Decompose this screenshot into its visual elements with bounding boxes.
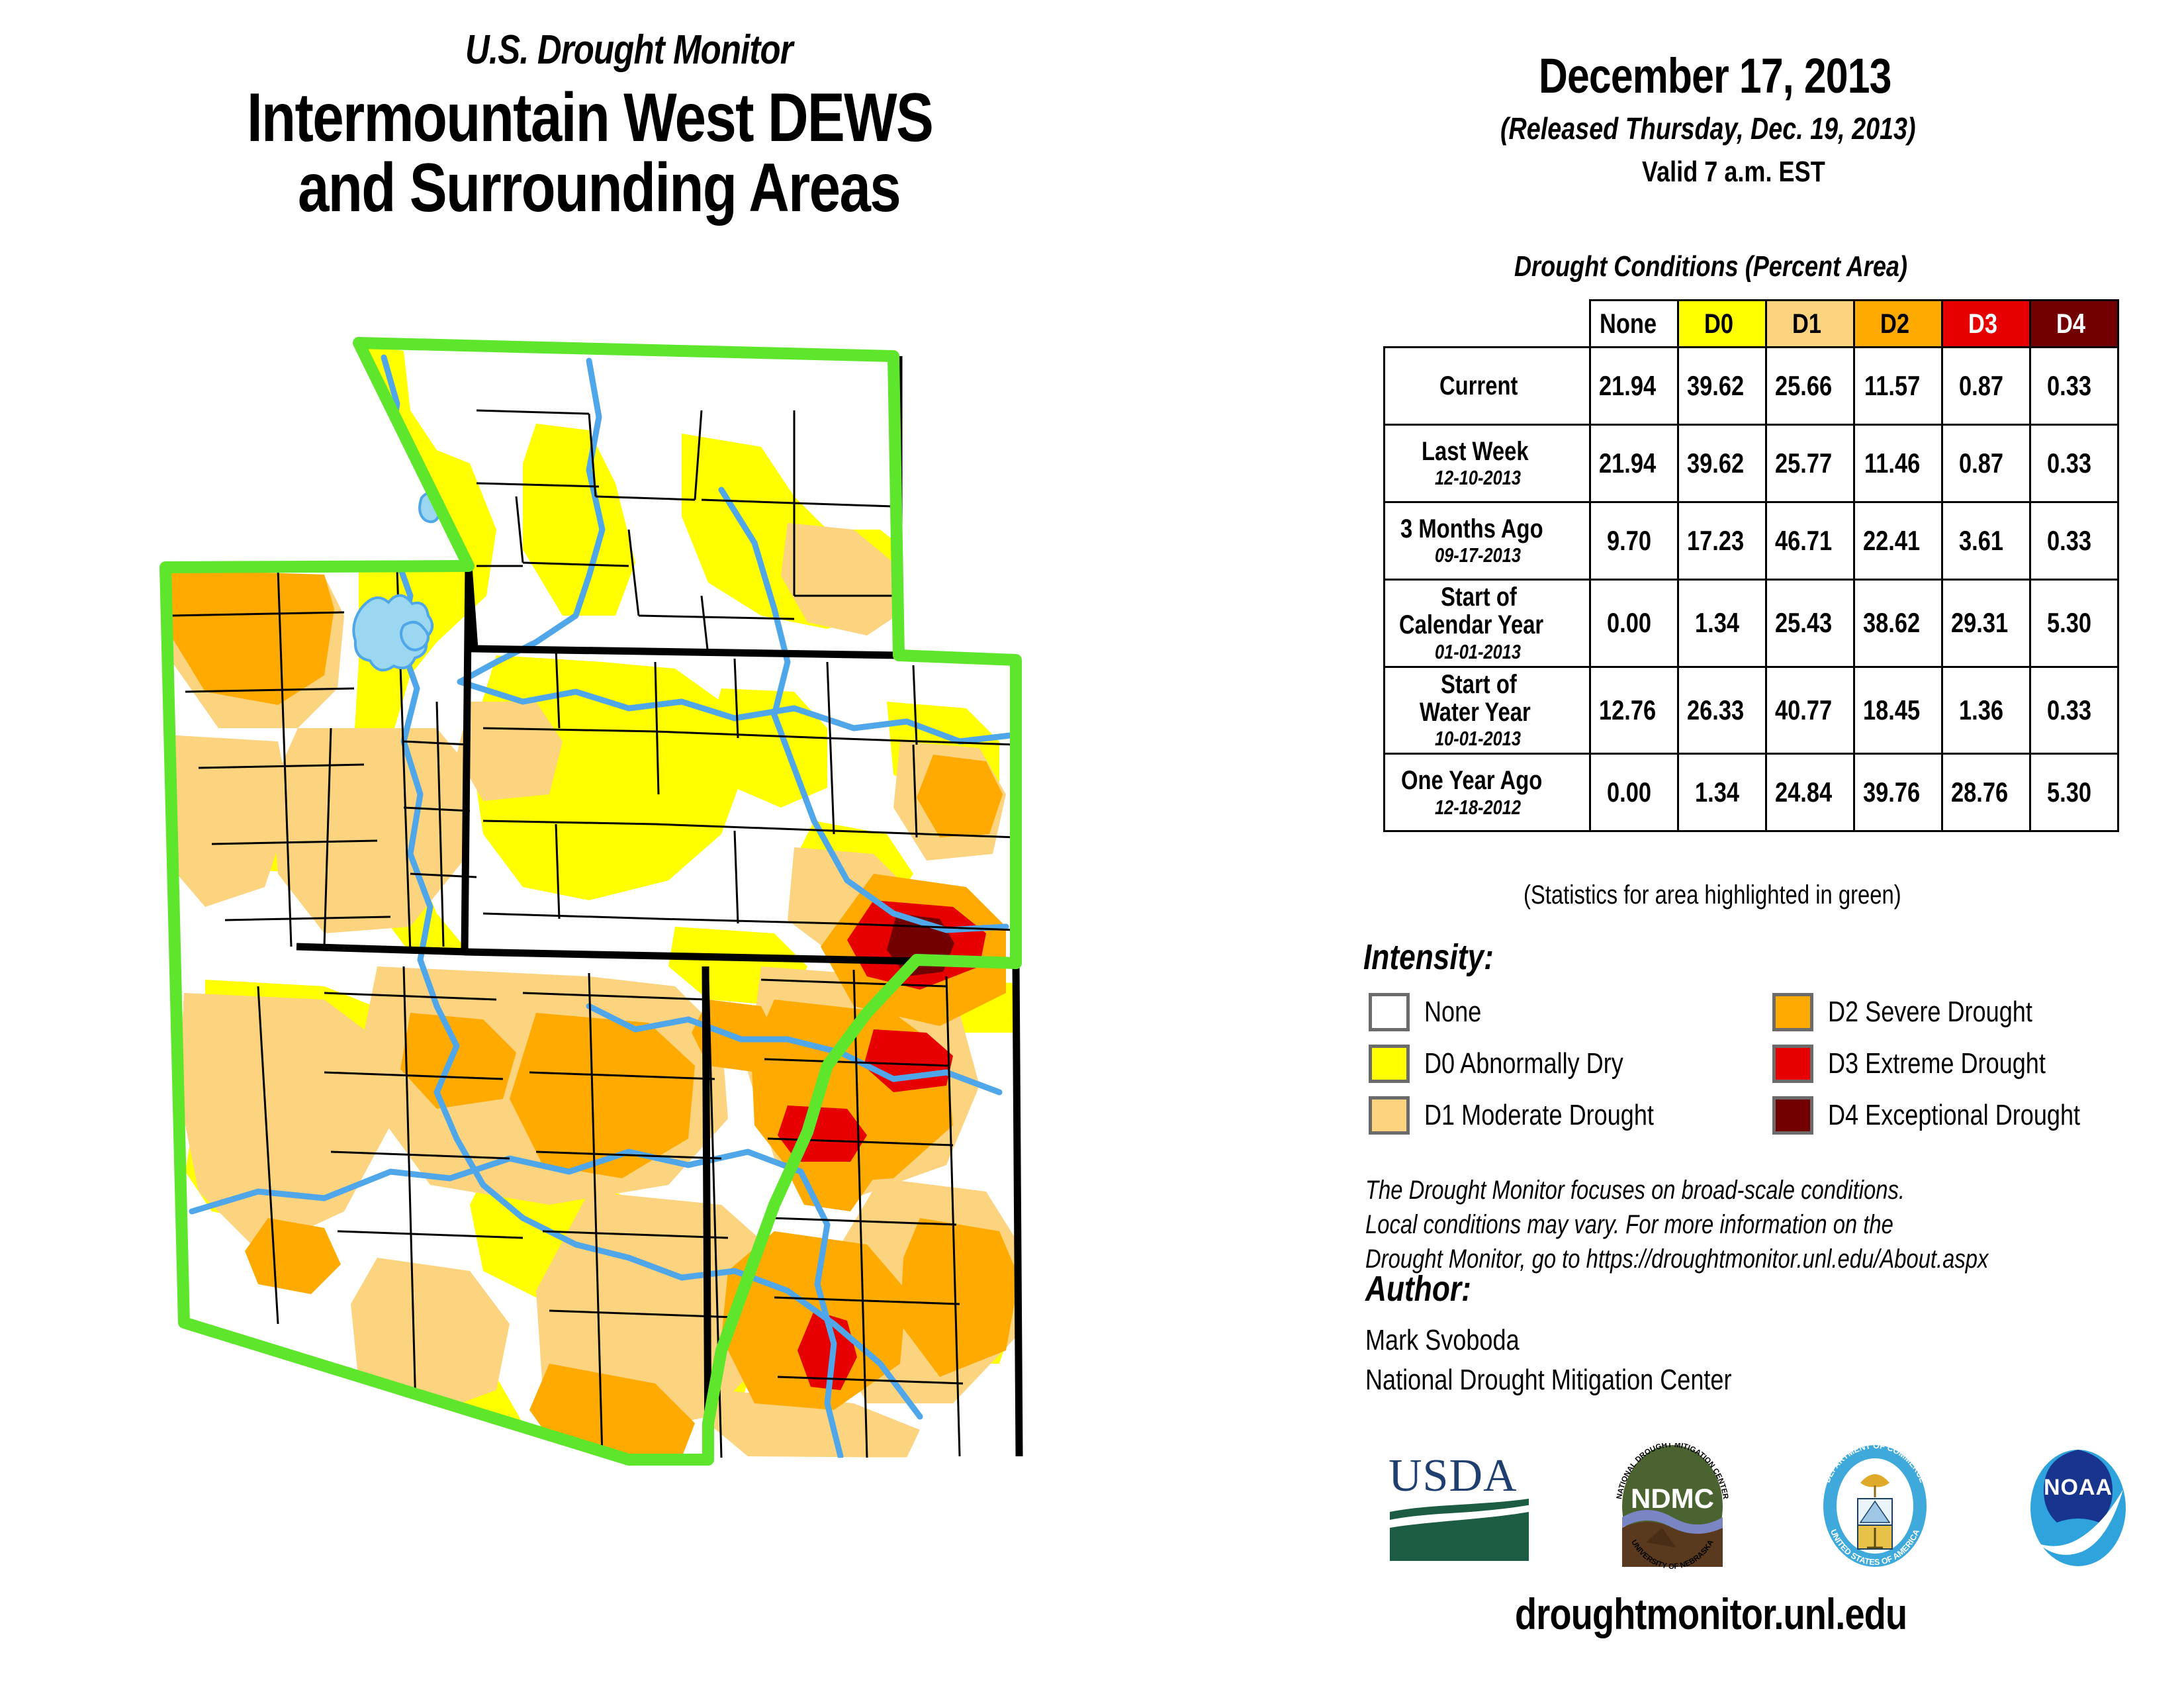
row-label-date: 09-17-2013 [1389,545,1585,567]
row-label-date: 10-01-2013 [1389,728,1585,750]
legend-label-d2: D2 Severe Drought [1828,996,2077,1029]
page-title-line1: Intermountain West DEWS [0,83,1330,153]
cell-d1: 24.84 [1766,754,1854,831]
cell-d4: 0.33 [2030,425,2118,502]
valid-date: December 17, 2013 [1363,48,2144,104]
cell-d4: 5.30 [2030,754,2118,831]
cell-d4: 0.33 [2030,667,2118,754]
cell-d2: 39.76 [1854,754,1942,831]
table-row: Start ofWater Year10-01-201312.7626.3340… [1385,667,2118,754]
title-block: U.S. Drought Monitor Intermountain West … [0,26,1330,223]
svg-text:USDA: USDA [1388,1450,1518,1501]
cell-none: 12.76 [1590,667,1678,754]
swatch-d4-icon [1772,1096,1813,1135]
intensity-title: Intensity: [1363,937,1522,978]
doc-logo: DEPARTMENT OF COMMERCE UNITED STATES OF … [1809,1443,1941,1569]
cell-d3: 29.31 [1942,580,2030,667]
disclaimer-line-2: Local conditions may vary. For more info… [1365,1207,2146,1242]
legend-label-none: None [1424,996,1494,1029]
table-caption: Drought Conditions (Percent Area) [1363,250,2144,283]
cell-d2: 38.62 [1854,580,1942,667]
swatch-d2-icon [1772,993,1813,1031]
swatch-d0-icon [1369,1045,1410,1083]
cell-d2: 11.46 [1854,425,1942,502]
legend-item-d0: D0 Abnormally Dry [1369,1038,1772,1090]
cell-d1: 25.66 [1766,348,1854,425]
table-row: Start ofCalendar Year01-01-20130.001.342… [1385,580,2118,667]
swatch-d3-icon [1772,1045,1813,1083]
column-header-d1: D1 [1766,301,1854,348]
cell-d0: 1.34 [1678,580,1766,667]
cell-none: 21.94 [1590,348,1678,425]
cell-d3: 3.61 [1942,502,2030,580]
cell-d0: 17.23 [1678,502,1766,580]
author-block: Mark Svoboda National Drought Mitigation… [1365,1321,1812,1400]
row-label: Start ofWater Year10-01-2013 [1385,667,1590,754]
table-note: (Statistics for area highlighted in gree… [1363,880,2144,910]
legend-item-d3: D3 Extreme Drought [1772,1038,2143,1090]
legend-label-d1: D1 Moderate Drought [1424,1099,1704,1132]
valid-time: Valid 7 a.m. EST [1363,156,2144,189]
cell-d0: 39.62 [1678,425,1766,502]
author-name: Mark Svoboda [1365,1321,1812,1360]
column-header-none: None [1590,301,1678,348]
usda-logo: USDA [1383,1443,1535,1569]
row-label-date: 01-01-2013 [1389,641,1585,663]
column-header-d4: D4 [2030,301,2118,348]
cell-d3: 28.76 [1942,754,2030,831]
column-header-d2: D2 [1854,301,1942,348]
table-row: Current21.9439.6225.6611.570.870.33 [1385,348,2118,425]
table-corner-cell [1385,301,1590,348]
drought-map [126,331,1291,1542]
release-date: (Released Thursday, Dec. 19, 2013) [1363,111,2144,146]
cell-d0: 39.62 [1678,348,1766,425]
cell-d4: 0.33 [2030,348,2118,425]
legend-label-d3: D3 Extreme Drought [1828,1047,2093,1080]
cell-none: 0.00 [1590,754,1678,831]
site-url: droughtmonitor.unl.edu [1363,1589,2144,1639]
column-header-d0: D0 [1678,301,1766,348]
legend-item-d2: D2 Severe Drought [1772,986,2143,1038]
cell-d1: 40.77 [1766,667,1854,754]
cell-d3: 0.87 [1942,348,2030,425]
swatch-none-icon [1369,993,1410,1031]
page-title-line2: and Surrounding Areas [0,153,1330,223]
legend-label-d0: D0 Abnormally Dry [1424,1047,1667,1080]
svg-text:NDMC: NDMC [1631,1483,1714,1514]
cell-d0: 1.34 [1678,754,1766,831]
page-supertitle: U.S. Drought Monitor [0,26,1330,73]
drought-conditions-table: None D0 D1 D2 D3 D4 Current21.9439.6225.… [1383,299,2119,832]
row-label-date: 12-18-2012 [1389,797,1585,819]
cell-d4: 5.30 [2030,580,2118,667]
row-label-date: 12-10-2013 [1389,467,1585,489]
cell-none: 9.70 [1590,502,1678,580]
table-header-row: None D0 D1 D2 D3 D4 [1385,301,2118,348]
legend-label-d4: D4 Exceptional Drought [1828,1099,2136,1132]
row-label: Start ofCalendar Year01-01-2013 [1385,580,1590,667]
table-row: Last Week12-10-201321.9439.6225.7711.460… [1385,425,2118,502]
row-label: One Year Ago12-18-2012 [1385,754,1590,831]
author-title: Author: [1365,1268,1494,1309]
cell-none: 0.00 [1590,580,1678,667]
row-label: Current [1385,348,1590,425]
author-organization: National Drought Mitigation Center [1365,1360,1812,1400]
cell-d3: 1.36 [1942,667,2030,754]
row-label: 3 Months Ago09-17-2013 [1385,502,1590,580]
intensity-legend: None D2 Severe Drought D0 Abnormally Dry… [1369,986,2143,1141]
ndmc-logo: NDMC NATIONAL DROUGHT MITIGATION CENTER … [1606,1443,1739,1569]
cell-none: 21.94 [1590,425,1678,502]
column-header-d3: D3 [1942,301,2030,348]
swatch-d1-icon [1369,1096,1410,1135]
cell-d4: 0.33 [2030,502,2118,580]
cell-d1: 25.43 [1766,580,1854,667]
date-block: December 17, 2013 (Released Thursday, De… [1363,48,2144,189]
legend-item-none: None [1369,986,1772,1038]
logo-row: USDA NDMC NATIONAL DROUGHT MITIGATION CE… [1383,1443,2144,1569]
cell-d1: 46.71 [1766,502,1854,580]
legend-item-d1: D1 Moderate Drought [1369,1090,1772,1141]
cell-d0: 26.33 [1678,667,1766,754]
table-row: One Year Ago12-18-20120.001.3424.8439.76… [1385,754,2118,831]
cell-d2: 22.41 [1854,502,1942,580]
cell-d2: 11.57 [1854,348,1942,425]
row-label: Last Week12-10-2013 [1385,425,1590,502]
table-row: 3 Months Ago09-17-20139.7017.2346.7122.4… [1385,502,2118,580]
svg-text:NOAA: NOAA [2044,1475,2113,1500]
disclaimer-line-1: The Drought Monitor focuses on broad-sca… [1365,1173,2146,1207]
noaa-logo: NOAA [2012,1443,2144,1569]
cell-d2: 18.45 [1854,667,1942,754]
cell-d1: 25.77 [1766,425,1854,502]
legend-item-d4: D4 Exceptional Drought [1772,1090,2143,1141]
cell-d3: 0.87 [1942,425,2030,502]
disclaimer-text: The Drought Monitor focuses on broad-sca… [1365,1173,2146,1276]
